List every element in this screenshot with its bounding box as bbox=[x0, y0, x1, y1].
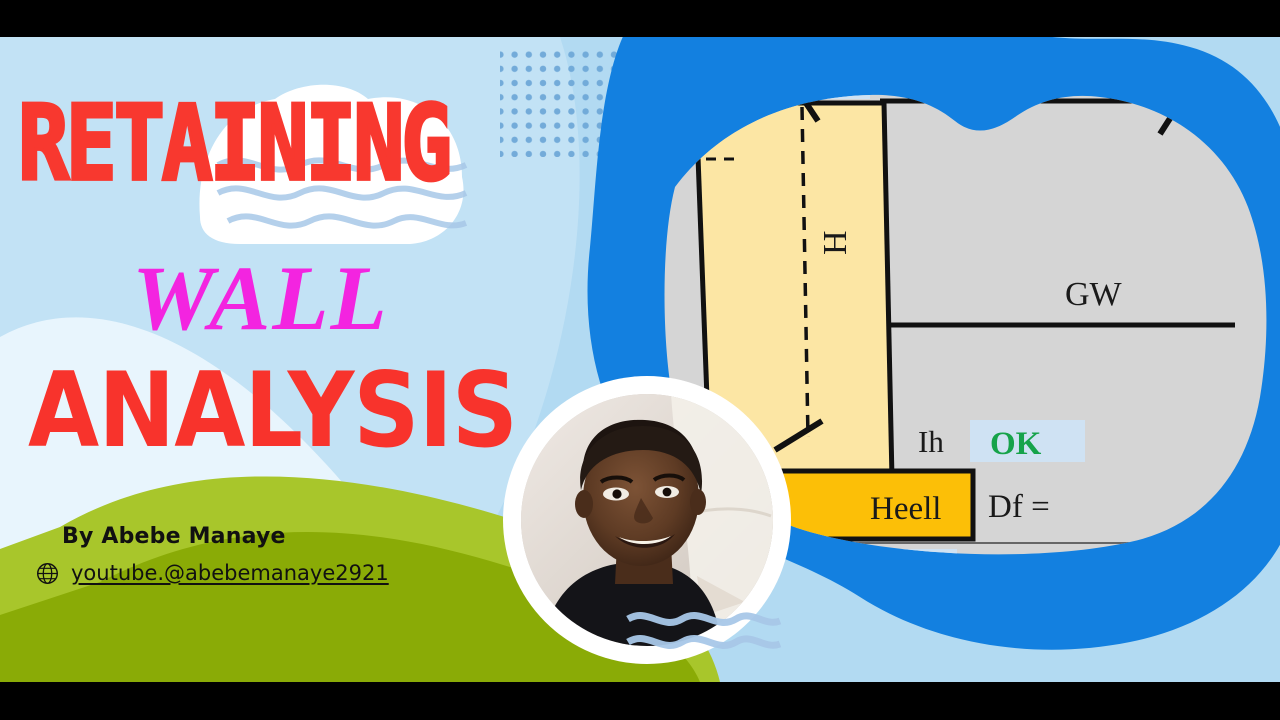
status-badge-middle: OK bbox=[990, 426, 1042, 462]
credit-block: By Abebe Manaye youtube.@abebemanaye2921 bbox=[62, 524, 389, 585]
thumbnail-canvas: OK GW bbox=[0, 37, 1280, 682]
status-badge-top: OK bbox=[782, 64, 834, 100]
label-footing: Heell bbox=[870, 491, 941, 527]
letterbox-top bbox=[0, 0, 1280, 37]
avatar bbox=[512, 385, 782, 655]
badge-bg-top bbox=[760, 59, 870, 99]
label-slope-run: 50 bbox=[590, 226, 622, 262]
byline: By Abebe Manaye bbox=[62, 524, 389, 549]
avatar-photo-clip bbox=[521, 394, 773, 646]
thumbnail-stage: OK GW bbox=[0, 0, 1280, 720]
badge-bg-bottom bbox=[842, 549, 957, 593]
label-slope-ratio: 1 bbox=[642, 119, 657, 152]
label-depth: Df = bbox=[988, 489, 1050, 525]
presenter-photo bbox=[521, 394, 773, 646]
globe-icon bbox=[36, 562, 59, 585]
letterbox-bottom bbox=[0, 682, 1280, 720]
label-ground-water: GW bbox=[1065, 276, 1123, 313]
status-badge-bottom: OK bbox=[862, 556, 914, 592]
label-wall-height: H bbox=[817, 230, 854, 255]
label-lever-heel: Ih bbox=[918, 424, 944, 459]
channel-link[interactable]: youtube.@abebemanaye2921 bbox=[71, 561, 389, 585]
channel-link-row[interactable]: youtube.@abebemanaye2921 bbox=[36, 561, 389, 585]
